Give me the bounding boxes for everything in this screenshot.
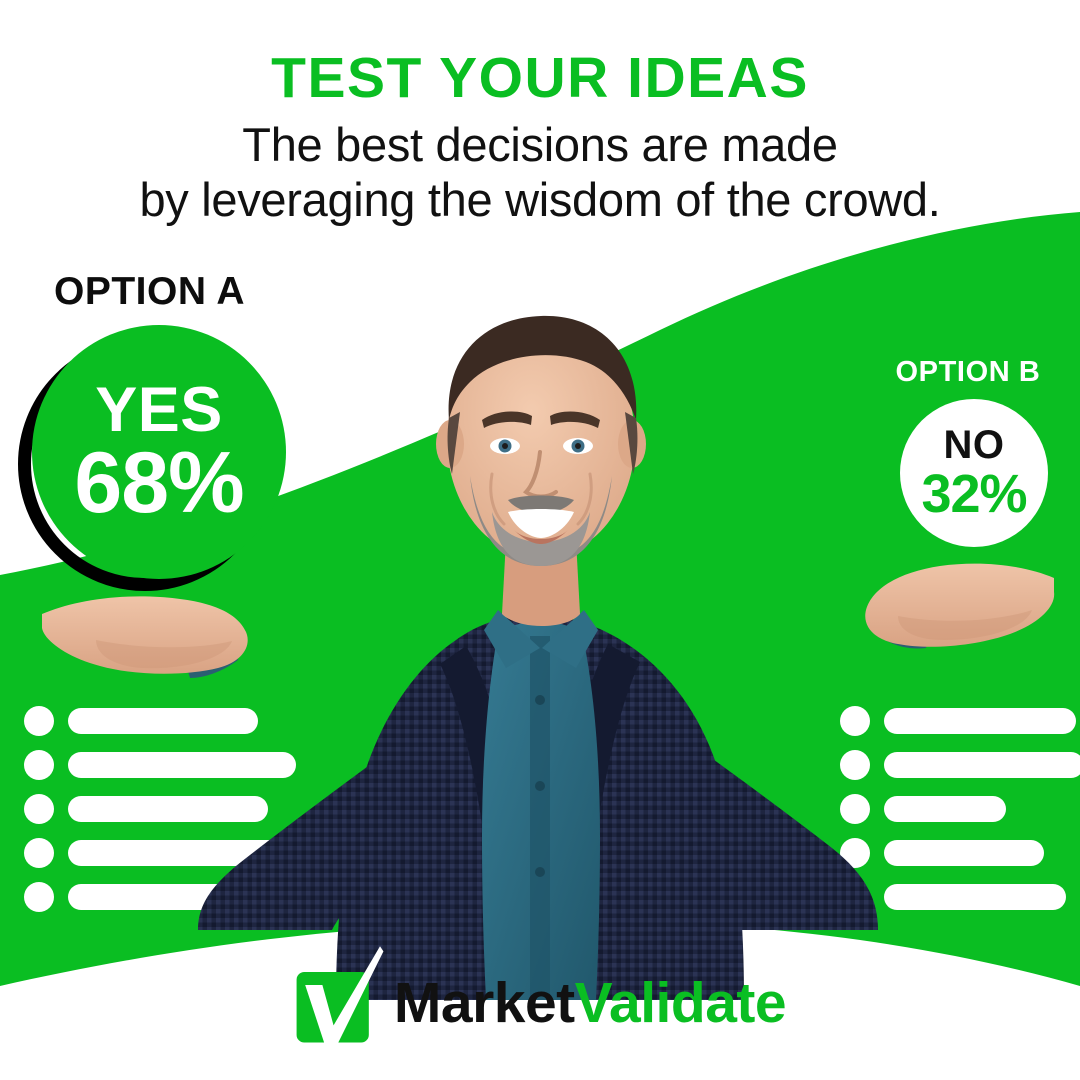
bullet-dot-icon xyxy=(24,794,54,824)
list-item xyxy=(840,794,1080,824)
headline-subtitle: The best decisions are made by leveragin… xyxy=(0,118,1080,227)
checkmark-logo-icon xyxy=(294,960,380,1046)
bullet-dot-icon xyxy=(24,750,54,780)
brand-word-market: Market xyxy=(394,971,575,1035)
list-right xyxy=(840,706,1080,926)
option-a-label: OPTION A xyxy=(54,272,286,311)
bullet-bar xyxy=(884,796,1006,822)
poster-canvas: TEST YOUR IDEAS The best decisions are m… xyxy=(0,0,1080,1080)
bullet-dot-icon xyxy=(840,838,870,868)
headline-title: TEST YOUR IDEAS xyxy=(0,48,1080,108)
bullet-bar xyxy=(884,708,1076,734)
option-b-label: OPTION B xyxy=(888,358,1048,387)
option-a-badge[interactable]: YES 68% xyxy=(18,325,286,593)
bullet-dot-icon xyxy=(840,794,870,824)
bullet-bar xyxy=(884,752,1080,778)
headline-subtitle-line1: The best decisions are made xyxy=(0,118,1080,173)
bullet-dot-icon xyxy=(840,706,870,736)
option-b-answer: NO xyxy=(944,425,1005,465)
list-item xyxy=(840,706,1080,736)
option-a-block[interactable]: OPTION A YES 68% xyxy=(18,272,286,593)
option-b-block[interactable]: OPTION B NO 32% xyxy=(888,358,1048,547)
list-item xyxy=(24,838,356,868)
option-a-percent: 68% xyxy=(74,443,243,524)
option-b-badge[interactable]: NO 32% xyxy=(900,399,1048,547)
list-item xyxy=(24,750,356,780)
list-item xyxy=(24,794,356,824)
option-a-answer: YES xyxy=(95,380,223,442)
bullet-bar xyxy=(884,884,1066,910)
brand-word-validate: Validate xyxy=(575,971,786,1035)
list-item xyxy=(840,838,1080,868)
list-item xyxy=(24,882,356,912)
bullet-dot-icon xyxy=(24,838,54,868)
brand-logo[interactable]: MarketValidate xyxy=(0,960,1080,1046)
bullet-bar xyxy=(68,840,336,866)
brand-wordmark: MarketValidate xyxy=(394,975,786,1032)
bullet-dot-icon xyxy=(24,706,54,736)
bullet-bar xyxy=(68,752,296,778)
option-a-disc[interactable]: YES 68% xyxy=(32,325,286,579)
bullet-dot-icon xyxy=(24,882,54,912)
headline-block: TEST YOUR IDEAS The best decisions are m… xyxy=(0,48,1080,227)
bullet-bar xyxy=(68,708,258,734)
bullet-bar xyxy=(884,840,1044,866)
list-item xyxy=(840,750,1080,780)
bullet-bar xyxy=(68,884,356,910)
option-b-percent: 32% xyxy=(921,467,1026,521)
headline-subtitle-line2: by leveraging the wisdom of the crowd. xyxy=(0,173,1080,228)
bullet-dot-icon xyxy=(840,750,870,780)
bullet-bar xyxy=(68,796,268,822)
list-left xyxy=(24,706,356,926)
list-item xyxy=(24,706,356,736)
bullet-dot-icon xyxy=(840,882,870,912)
list-item xyxy=(840,882,1080,912)
